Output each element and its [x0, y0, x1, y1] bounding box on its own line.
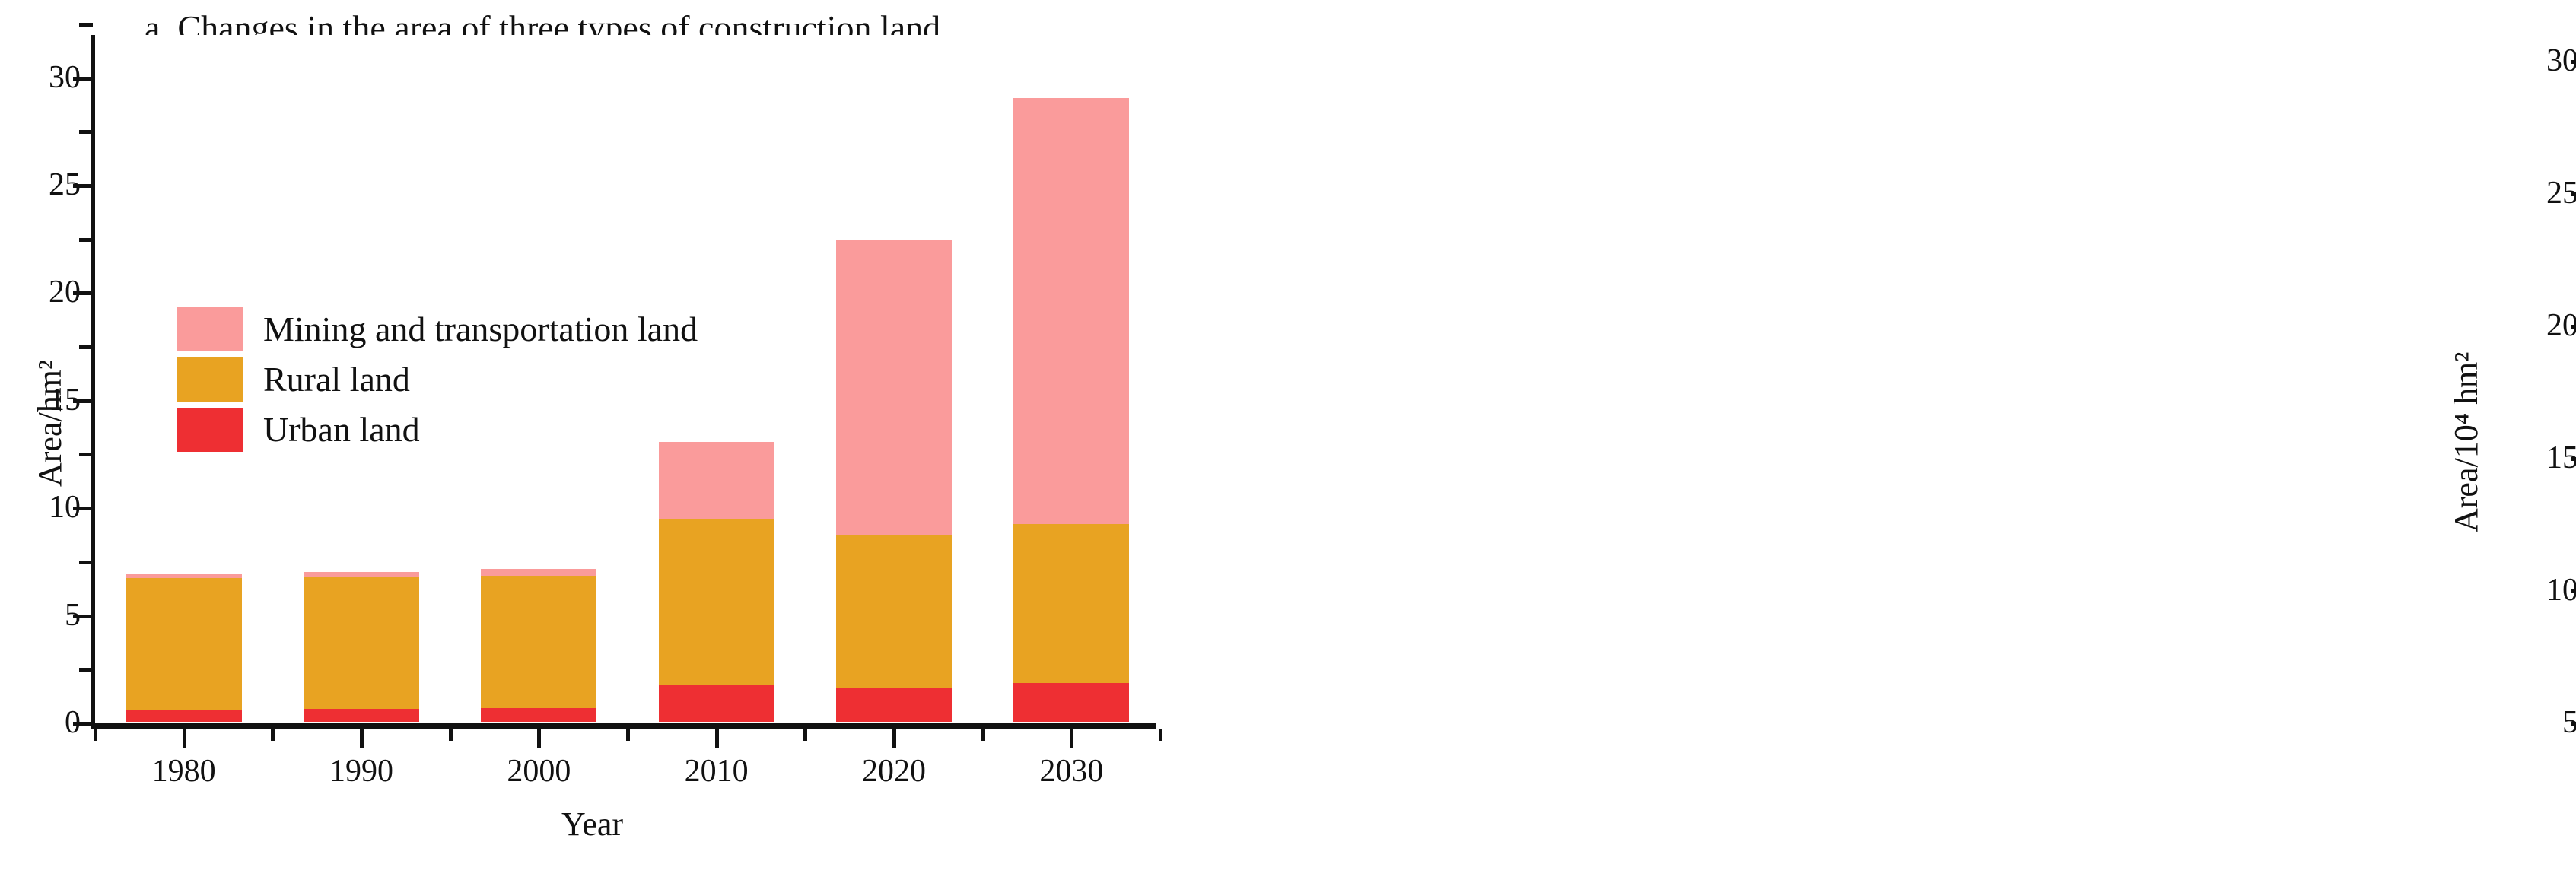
panel-a-legend: Mining and transportation landRural land…: [177, 304, 698, 455]
y-tick-label: 25: [2505, 177, 2576, 209]
legend-item: Urban land: [177, 405, 698, 455]
y-tick-label: 25: [8, 169, 81, 201]
x-tick-minor: [1159, 729, 1162, 741]
bar-segment-urban: [126, 710, 242, 722]
legend-swatch: [177, 408, 243, 452]
figure-root: a. Changes in the area of three types of…: [0, 0, 2576, 877]
panel-a-x-axis-line: [91, 723, 1156, 729]
bar-segment-rural: [126, 578, 242, 710]
bar-segment-urban: [481, 708, 596, 722]
y-tick-minor: [79, 23, 93, 27]
y-tick-minor: [79, 130, 93, 134]
panel-a: a. Changes in the area of three types of…: [0, 0, 1187, 877]
y-tick-label: 20: [2505, 310, 2576, 342]
bar-segment-rural: [481, 576, 596, 708]
y-tick-label: 30: [2505, 45, 2576, 77]
bar-column: [836, 33, 952, 722]
y-tick-label: 0: [8, 707, 81, 739]
y-tick-minor: [79, 668, 93, 672]
panel-a-y-axis-title: Area/hm²: [33, 360, 67, 487]
bar-segment-urban: [1013, 683, 1129, 722]
bar-segment-mining: [1013, 98, 1129, 524]
x-tick: [715, 729, 719, 748]
y-tick-label: 5: [8, 599, 81, 631]
x-tick: [183, 729, 186, 748]
y-tick-minor: [79, 561, 93, 564]
x-tick-minor: [449, 729, 453, 741]
x-tick: [537, 729, 541, 748]
panel-b: b. Changes in three types of land-use ar…: [1187, 0, 2576, 877]
bar-segment-rural: [1013, 524, 1129, 683]
bar-segment-urban: [304, 709, 419, 722]
y-tick-label: 30: [8, 62, 81, 94]
legend-label: Rural land: [263, 362, 410, 397]
x-tick-minor: [94, 729, 97, 741]
x-tick-label: 2010: [648, 755, 785, 787]
x-tick-minor: [803, 729, 807, 741]
bar-segment-rural: [304, 577, 419, 709]
x-tick-label: 2000: [470, 755, 607, 787]
bar-segment-urban: [659, 685, 774, 722]
bar-segment-rural: [659, 519, 774, 685]
panel-a-x-axis-title: Year: [561, 808, 623, 841]
bar-segment-rural: [836, 535, 952, 688]
bar-column: [1013, 33, 1129, 722]
y-tick-label: 5: [2505, 707, 2576, 739]
x-tick-label: 2020: [825, 755, 962, 787]
y-tick-label: 20: [8, 276, 81, 308]
legend-label: Urban land: [263, 412, 420, 447]
bar-segment-mining: [304, 572, 419, 577]
panel-b-y-axis-title: Area/10⁴ hm²: [2450, 352, 2483, 532]
y-tick-minor: [79, 238, 93, 242]
bar-segment-mining: [836, 240, 952, 535]
x-tick-label: 1980: [116, 755, 253, 787]
x-tick-minor: [981, 729, 985, 741]
x-tick-minor: [271, 729, 275, 741]
x-tick: [892, 729, 896, 748]
bar-segment-urban: [836, 688, 952, 722]
legend-swatch: [177, 357, 243, 402]
legend-swatch: [177, 307, 243, 351]
legend-item: Rural land: [177, 354, 698, 405]
y-tick-minor: [79, 453, 93, 456]
legend-label: Mining and transportation land: [263, 312, 698, 347]
x-tick: [1070, 729, 1073, 748]
y-tick-label: 10: [8, 491, 81, 523]
x-tick-label: 1990: [293, 755, 430, 787]
bar-segment-mining: [126, 574, 242, 577]
y-tick-minor: [79, 345, 93, 349]
x-tick-label: 2030: [1003, 755, 1140, 787]
y-tick-label: 15: [2505, 442, 2576, 474]
legend-item: Mining and transportation land: [177, 304, 698, 354]
x-tick-minor: [626, 729, 630, 741]
x-tick: [360, 729, 364, 748]
y-tick-label: 10: [2505, 574, 2576, 606]
bar-segment-mining: [481, 569, 596, 575]
